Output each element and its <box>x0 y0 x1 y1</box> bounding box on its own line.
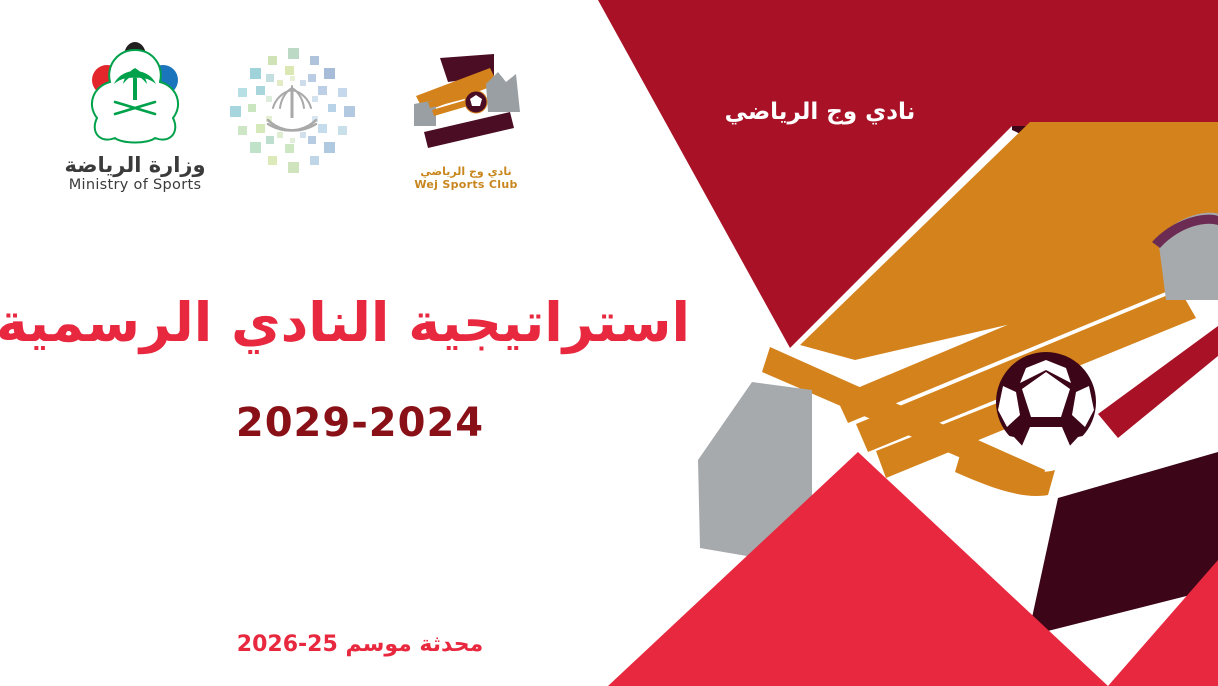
maroon-parallelogram <box>1028 452 1218 636</box>
gray-stadium-arch <box>1152 215 1218 248</box>
orange-swoosh-band <box>800 122 1218 360</box>
logo-wej-sports-club: نادي وج الرياضي Wej Sports Club <box>402 50 530 191</box>
ministry-of-sports-logo <box>60 38 210 148</box>
dark-red-top-panel <box>598 0 1218 348</box>
orange-motion-streak <box>836 248 1202 423</box>
gray-hexagon <box>698 382 812 560</box>
update-note: محدثة موسم 25-2026 <box>30 632 690 657</box>
headline-block: استراتيجية النادي الرسمية 2029-2024 <box>30 292 690 446</box>
logo-club-caption-ar: نادي وج الرياضي <box>402 166 530 178</box>
strategy-years: 2029-2024 <box>30 400 690 446</box>
club-name-header: نادي وج الرياضي <box>700 99 940 125</box>
page-title: استراتيجية النادي الرسمية <box>30 292 690 354</box>
maroon-chevron <box>1012 126 1218 172</box>
orange-motion-streak <box>856 290 1196 452</box>
orange-motion-streak <box>876 388 1047 478</box>
logo-ministry-caption-ar: وزارة الرياضة <box>60 154 210 177</box>
gray-stadium-arch <box>1158 213 1218 300</box>
orange-motion-streak <box>955 455 1055 496</box>
soccer-ball <box>996 352 1096 456</box>
dark-red-diagonal-stripe <box>1098 326 1218 438</box>
saudi-emblem-logo <box>228 46 356 174</box>
logo-ministry-of-sports: وزارة الرياضة Ministry of Sports <box>60 38 210 194</box>
wej-sports-club-logo <box>402 50 530 166</box>
logo-ministry-caption-en: Ministry of Sports <box>60 177 210 194</box>
logo-club-caption-en: Wej Sports Club <box>402 178 530 191</box>
slide-canvas: وزارة الرياضة Ministry of Sports <box>0 0 1218 686</box>
logo-saudi-emblem <box>228 46 356 178</box>
crimson-corner-wedge <box>1108 560 1218 686</box>
orange-motion-streak <box>762 347 1045 492</box>
logo-row: وزارة الرياضة Ministry of Sports <box>0 38 560 188</box>
